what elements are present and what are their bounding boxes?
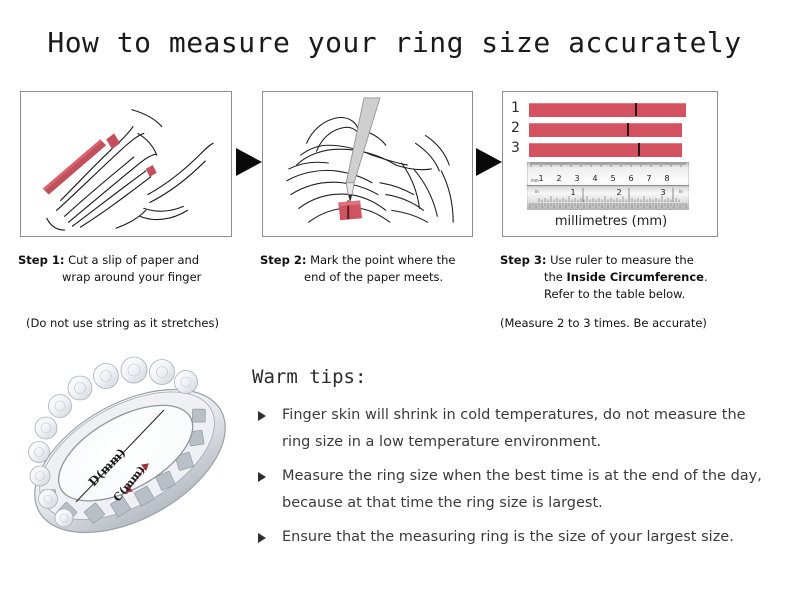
svg-text:2: 2	[556, 174, 561, 183]
svg-text:6: 6	[628, 174, 633, 183]
strip-number-1: 1	[511, 100, 520, 116]
warm-tip-item-1: Finger skin will shrink in cold temperat…	[256, 402, 766, 456]
warm-tip-item-3: Ensure that the measuring ring is the si…	[256, 524, 766, 551]
hand-marking-paper-with-pen-icon	[263, 92, 472, 236]
step-1-note: (Do not use string as it stretches)	[26, 316, 219, 330]
triangle-bullet-icon	[258, 472, 266, 482]
step-1-illustration-panel	[20, 91, 232, 237]
paper-slip-marked-shape	[338, 200, 362, 220]
warm-tip-text-2: Measure the ring size when the best time…	[282, 468, 762, 511]
step-3-caption: Step 3: Use ruler to measure the the Ins…	[500, 252, 750, 303]
arrow-step2-to-step3-icon	[476, 148, 502, 176]
strip-bar-2	[529, 123, 682, 137]
svg-text:1: 1	[538, 174, 543, 183]
ruler-unit-caption: millimetres (mm)	[503, 214, 718, 229]
svg-text:3: 3	[574, 174, 579, 183]
page-title: How to measure your ring size accurately	[0, 26, 789, 59]
warm-tips-list: Finger skin will shrink in cold temperat…	[256, 402, 766, 558]
ruler-icon: 1 2 3 4 5 6 7 8 mm 1 2 3 in in	[527, 162, 689, 210]
step-3-line2-prefix: the	[544, 270, 567, 284]
strip-mark-2	[627, 123, 629, 136]
strip-mark-1	[635, 103, 637, 116]
step-3-illustration-panel: 1 2 3	[502, 91, 718, 237]
step-2-illustration-panel	[262, 91, 473, 237]
step-2-text-line2: end of the paper meets.	[260, 269, 490, 286]
step-3-line2-suffix: .	[704, 270, 708, 284]
step-3-text-line2: the Inside Circumference.	[500, 269, 750, 286]
step-3-label: Step 3:	[500, 253, 546, 267]
step-1-text-line2: wrap around your finger	[18, 269, 246, 286]
strip-mark-3	[638, 143, 640, 156]
step-3-text-line3: Refer to the table below.	[500, 286, 750, 303]
strip-bar-1	[529, 103, 686, 117]
step-1-label: Step 1:	[18, 253, 64, 267]
step-1-text-line1: Cut a slip of paper and	[68, 253, 199, 267]
svg-text:5: 5	[610, 174, 615, 183]
svg-text:1: 1	[570, 188, 575, 197]
step-3-note: (Measure 2 to 3 times. Be accurate)	[500, 316, 707, 330]
warm-tips-heading: Warm tips:	[252, 366, 366, 388]
strip-number-3: 3	[511, 140, 520, 156]
step-2-text-line1: Mark the point where the	[310, 253, 455, 267]
step-3-text-line1: Use ruler to measure the	[550, 253, 694, 267]
triangle-bullet-icon	[258, 533, 266, 543]
warm-tip-text-1: Finger skin will shrink in cold temperat…	[282, 407, 746, 450]
hand-with-paper-slip-icon	[21, 92, 231, 236]
svg-text:7: 7	[646, 174, 651, 183]
step-1-caption: Step 1: Cut a slip of paper and wrap aro…	[18, 252, 246, 286]
warm-tip-text-3: Ensure that the measuring ring is the si…	[282, 529, 734, 545]
svg-text:8: 8	[664, 174, 669, 183]
svg-text:2: 2	[616, 188, 621, 197]
step-2-caption: Step 2: Mark the point where the end of …	[260, 252, 490, 286]
svg-text:in: in	[535, 189, 539, 194]
svg-text:mm: mm	[531, 178, 539, 183]
strip-number-2: 2	[511, 120, 520, 136]
svg-text:in: in	[679, 189, 683, 194]
ring-diagram-icon: D(mm) C(mm)	[14, 352, 246, 570]
triangle-bullet-icon	[258, 411, 266, 421]
inside-circumference-emphasis: Inside Circumference	[567, 270, 704, 284]
arrow-step1-to-step2-icon	[236, 148, 262, 176]
warm-tip-item-2: Measure the ring size when the best time…	[256, 463, 766, 517]
svg-text:3: 3	[660, 188, 665, 197]
strip-bar-3	[529, 143, 682, 157]
step-2-label: Step 2:	[260, 253, 306, 267]
svg-text:4: 4	[592, 174, 597, 183]
